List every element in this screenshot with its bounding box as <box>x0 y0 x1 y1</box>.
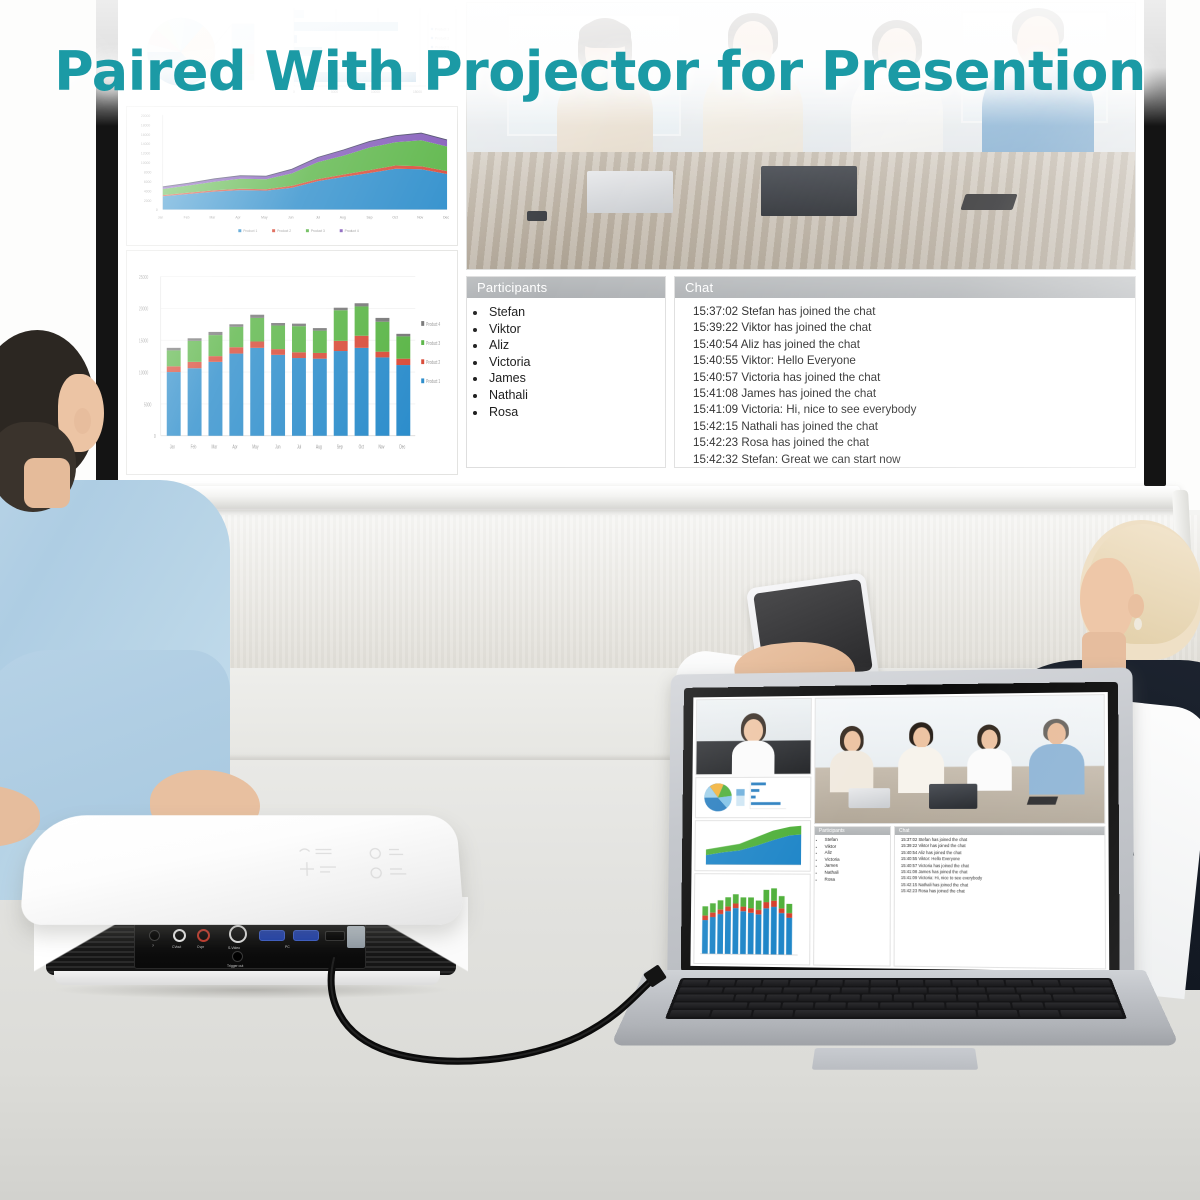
laptop-charts-column <box>693 698 812 966</box>
key[interactable] <box>1074 987 1114 993</box>
svg-text:Product 3: Product 3 <box>311 229 325 233</box>
svg-text:8000: 8000 <box>144 171 152 175</box>
chat-message: 15:42:23 Rosa has joined the chat <box>693 435 1135 451</box>
chat-message: 15:40:55 Viktor: Hello Everyone <box>693 353 1135 369</box>
shift-right-key[interactable] <box>1044 1002 1120 1009</box>
keyboard-row-home[interactable] <box>675 995 1117 1001</box>
chat-message: 15:42:15 Nathali has joined the chat <box>693 419 1135 435</box>
left-person-neck <box>24 458 70 508</box>
svg-text:Product 4: Product 4 <box>426 321 440 327</box>
key[interactable] <box>979 1002 1011 1009</box>
svg-text:0: 0 <box>156 208 158 212</box>
svg-text:May: May <box>252 444 259 450</box>
laptop-participants-list: Stefan Viktor Aliz Victoria James Nathal… <box>815 835 890 883</box>
ctrl-right-key[interactable] <box>1019 1010 1060 1017</box>
chat-title: Chat <box>675 277 1135 298</box>
svg-text:Jan: Jan <box>158 215 164 219</box>
svg-text:Product 1: Product 1 <box>426 378 440 384</box>
key[interactable] <box>708 980 735 986</box>
svg-text:14000: 14000 <box>141 142 151 146</box>
svg-text:Nov: Nov <box>378 444 385 450</box>
svg-text:Apr: Apr <box>235 215 241 219</box>
key[interactable] <box>989 995 1020 1001</box>
key[interactable] <box>830 995 860 1001</box>
laptop-video-column: Participants Stefan Viktor Aliz Victoria… <box>813 694 1106 969</box>
svg-text:2000: 2000 <box>144 199 152 203</box>
svg-text:Sep: Sep <box>367 215 373 219</box>
video-tablet <box>960 194 1017 210</box>
laptop-pie-and-bars <box>695 777 811 819</box>
laptop-video-feed <box>814 694 1105 824</box>
key[interactable] <box>1005 980 1031 986</box>
svg-text:Product 2: Product 2 <box>426 359 440 365</box>
svg-text:Aug: Aug <box>316 444 322 450</box>
svg-text:Oct: Oct <box>359 444 365 450</box>
svg-text:Product 3: Product 3 <box>426 340 440 346</box>
svg-text:Dec: Dec <box>399 444 406 450</box>
laptop-keyboard[interactable] <box>665 978 1127 1019</box>
svg-text:Product 2: Product 2 <box>277 229 291 233</box>
svg-text:Oct: Oct <box>392 215 397 219</box>
page-title: Paired With Projector for Presention <box>0 40 1200 103</box>
list-item: Rosa <box>824 876 889 883</box>
key[interactable] <box>844 980 869 986</box>
laptop-participants-panel: Participants Stefan Viktor Aliz Victoria… <box>813 826 891 967</box>
key[interactable] <box>925 980 950 986</box>
chat-message: 15:42:23 Rosa has joined the chat <box>901 888 1105 896</box>
component-video-port[interactable] <box>197 929 210 942</box>
key[interactable] <box>734 995 765 1001</box>
list-item[interactable]: James <box>487 370 665 387</box>
laptop-screen-content: Participants Stefan Viktor Aliz Victoria… <box>690 692 1109 972</box>
svg-text:10000: 10000 <box>141 161 151 165</box>
laptop-chat-list: 15:37:02 Stefan has joined the chat 15:3… <box>895 835 1105 896</box>
svg-text:6000: 6000 <box>144 180 152 184</box>
key[interactable] <box>946 1002 978 1009</box>
key[interactable] <box>894 995 924 1001</box>
keyboard-row-function[interactable] <box>681 980 1111 986</box>
chat-message: 15:40:57 Victoria has joined the chat <box>693 370 1135 386</box>
key[interactable] <box>1016 987 1045 993</box>
backspace-key[interactable] <box>1059 980 1111 986</box>
laptop-chat-panel: Chat 15:37:02 Stefan has joined the chat… <box>894 826 1107 970</box>
key[interactable] <box>1032 980 1059 986</box>
left-person-ear <box>74 408 91 434</box>
svg-text:Jul: Jul <box>316 215 321 219</box>
key[interactable] <box>817 980 843 986</box>
trigger-out-port[interactable] <box>232 951 243 962</box>
key[interactable] <box>1021 995 1052 1001</box>
key[interactable] <box>748 1002 780 1009</box>
laptop-participants-title: Participants <box>815 827 890 835</box>
key[interactable] <box>898 980 923 986</box>
key[interactable] <box>1045 987 1074 993</box>
audio-jack-label: ? <box>152 944 154 948</box>
trigger-out-label: Trigger out <box>227 964 243 968</box>
key[interactable] <box>814 1002 846 1009</box>
s-video-port[interactable] <box>229 925 247 943</box>
key[interactable] <box>870 987 897 993</box>
laptop-chat-title: Chat <box>895 827 1104 835</box>
key[interactable] <box>958 987 986 993</box>
laptop-area-chart <box>694 820 811 872</box>
key[interactable] <box>762 980 788 986</box>
key[interactable] <box>913 1002 944 1009</box>
participants-panel: Participants Stefan Viktor Aliz Victoria… <box>466 276 666 468</box>
keyboard-row-space[interactable] <box>669 1010 1123 1017</box>
svg-text:Nov: Nov <box>417 215 423 219</box>
list-item[interactable]: Victoria <box>487 354 665 371</box>
key[interactable] <box>724 987 753 993</box>
svg-text:Feb: Feb <box>184 215 190 219</box>
laptop-device[interactable]: Participants Stefan Viktor Aliz Victoria… <box>645 670 1145 1100</box>
svg-text:Mar: Mar <box>210 215 217 219</box>
composite-video-port[interactable] <box>173 929 186 942</box>
key[interactable] <box>841 987 869 993</box>
key[interactable] <box>1011 1002 1043 1009</box>
key[interactable] <box>798 995 829 1001</box>
key[interactable] <box>926 995 956 1001</box>
laptop-column-chart <box>693 873 810 965</box>
key[interactable] <box>848 1002 879 1009</box>
projection-screen-roller <box>88 486 1180 508</box>
key[interactable] <box>766 995 797 1001</box>
conference-info-row: Participants Stefan Viktor Aliz Victoria… <box>466 276 1136 468</box>
participants-title: Participants <box>467 277 665 298</box>
chat-message-list: 15:37:02 Stefan has joined the chat 15:3… <box>675 298 1135 468</box>
ctrl-key[interactable] <box>711 1010 752 1017</box>
laptop-self-view <box>695 698 811 775</box>
audio-jack-port[interactable] <box>149 930 160 941</box>
stacked-area-chart: 20000 18000 16000 14000 12000 10000 8000… <box>126 106 458 246</box>
key[interactable] <box>929 987 957 993</box>
svg-text:Sep: Sep <box>337 444 343 450</box>
key[interactable] <box>735 980 762 986</box>
svg-text:4000: 4000 <box>144 190 152 194</box>
list-item[interactable]: Aliz <box>487 337 665 354</box>
right-person-earring <box>1134 618 1142 630</box>
chat-message: 15:40:54 Aliz has joined the chat <box>693 337 1135 353</box>
chat-panel: Chat 15:37:02 Stefan has joined the chat… <box>674 276 1136 468</box>
key[interactable] <box>979 980 1005 986</box>
composite-video-label: CVout <box>172 945 181 949</box>
svg-text:Aug: Aug <box>340 215 346 219</box>
chat-message: 15:41:08 James has joined the chat <box>693 386 1135 402</box>
svg-text:20000: 20000 <box>139 306 149 312</box>
list-item[interactable]: Viktor <box>487 321 665 338</box>
list-item[interactable]: Rosa <box>487 404 665 421</box>
projector-top-shell <box>20 815 465 925</box>
key[interactable] <box>782 987 810 993</box>
key[interactable] <box>781 1002 813 1009</box>
chat-message: 15:37:02 Stefan has joined the chat <box>693 304 1135 320</box>
key[interactable] <box>871 980 896 986</box>
svg-text:Jul: Jul <box>297 444 301 450</box>
key[interactable] <box>789 980 815 986</box>
svg-text:Dec: Dec <box>443 215 449 219</box>
svg-text:12000: 12000 <box>141 152 151 156</box>
video-laptop-dark <box>761 166 857 216</box>
laptop-trackpad[interactable] <box>812 1048 978 1070</box>
keyboard-row-qwerty[interactable] <box>678 987 1114 993</box>
right-person-ear <box>1128 594 1144 618</box>
chat-message: 15:41:09 Victoria: Hi, nice to see every… <box>693 402 1135 418</box>
key[interactable] <box>900 987 927 993</box>
key[interactable] <box>812 987 840 993</box>
key[interactable] <box>753 987 782 993</box>
s-video-label: S-Video <box>228 946 240 950</box>
hdmi-cable <box>280 940 700 1100</box>
key[interactable] <box>987 987 1015 993</box>
video-laptop-silver <box>587 171 673 213</box>
projector-control-icons <box>294 842 426 895</box>
svg-text:May: May <box>261 215 268 219</box>
svg-text:16000: 16000 <box>141 133 151 137</box>
chat-message: 15:42:32 Stefan: Great we can start now <box>693 452 1135 468</box>
keyboard-row-shift[interactable] <box>672 1002 1120 1009</box>
alt-key[interactable] <box>752 1010 793 1017</box>
participants-list: Stefan Viktor Aliz Victoria James Nathal… <box>467 298 665 420</box>
laptop-display[interactable]: Participants Stefan Viktor Aliz Victoria… <box>681 682 1120 978</box>
svg-text:Product 4: Product 4 <box>345 229 359 233</box>
svg-text:Product 1: Product 1 <box>243 229 257 233</box>
key[interactable] <box>957 995 988 1001</box>
enter-key[interactable] <box>1052 995 1117 1001</box>
key[interactable] <box>952 980 978 986</box>
list-item[interactable]: Nathali <box>487 387 665 404</box>
arrow-keys[interactable] <box>1060 1010 1123 1017</box>
right-person-face <box>1080 558 1134 642</box>
video-phone <box>527 211 547 221</box>
list-item[interactable]: Stefan <box>487 304 665 321</box>
laptop-info-row: Participants Stefan Viktor Aliz Victoria… <box>813 826 1106 970</box>
svg-text:25000: 25000 <box>139 274 149 280</box>
key[interactable] <box>862 995 892 1001</box>
key[interactable] <box>881 1002 912 1009</box>
svg-text:Jun: Jun <box>275 444 281 450</box>
component-video-label: Cvpr <box>197 945 204 949</box>
chat-message: 15:39:22 Viktor has joined the chat <box>693 320 1135 336</box>
svg-text:Jun: Jun <box>288 215 294 219</box>
alt-right-key[interactable] <box>978 1010 1019 1017</box>
space-key[interactable] <box>794 1010 977 1017</box>
